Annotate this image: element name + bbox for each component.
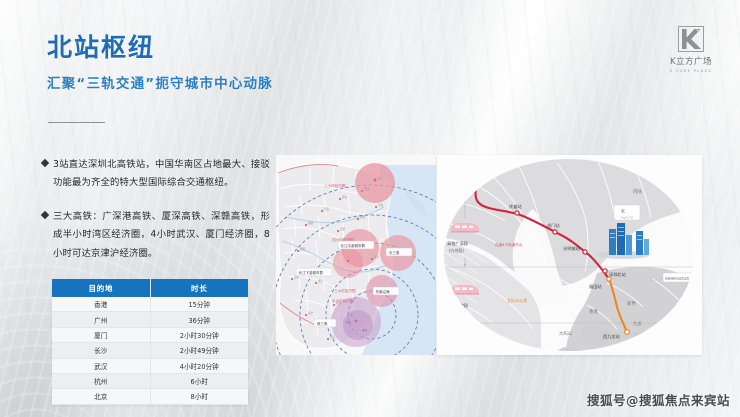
list-item: 3站直达深圳北高铁站，中国华南区占地最大、接驳功能最为齐全的特大型国际综合交通枢… <box>42 156 270 192</box>
cell-destination: 广州 <box>52 312 150 327</box>
cell-duration: 15分钟 <box>150 297 248 312</box>
k-cube-logo-icon <box>678 26 704 52</box>
bullet-text: 3站直达深圳北高铁站，中国华南区占地最大、接驳功能最为齐全的特大型国际综合交通枢… <box>53 156 270 192</box>
svg-text:东南沿海: 东南沿海 <box>376 289 390 294</box>
station-node-humen <box>553 230 557 234</box>
cell-destination: 杭州 <box>52 373 150 388</box>
svg-text:香港特别行政区边界: 香港特别行政区边界 <box>665 277 689 281</box>
cell-duration: 2小时30分钟 <box>150 327 248 342</box>
svg-text:K: K <box>621 209 625 215</box>
svg-text:深圳: 深圳 <box>346 320 352 324</box>
cell-destination: 厦门 <box>52 327 150 342</box>
header-divider <box>48 122 105 123</box>
cell-destination: 长沙 <box>52 343 150 358</box>
cell-duration: 2小时49分钟 <box>150 343 248 358</box>
station-node-guangmingcheng <box>583 250 587 254</box>
station-label-qingsheng: 庆盛站 <box>509 203 522 210</box>
station-node-futian <box>607 277 611 281</box>
svg-text:北京: 北京 <box>378 176 384 180</box>
annotation-nodes: 连接6个轨道节点 <box>495 242 523 247</box>
cell-duration: 6小时 <box>150 373 248 388</box>
column-header-destination: 目的地 <box>52 279 150 297</box>
svg-text:长三角: 长三角 <box>389 250 400 255</box>
table-row: 长沙 2小时49分钟 <box>52 343 248 358</box>
svg-text:合肥: 合肥 <box>340 227 346 231</box>
cell-duration: 36分钟 <box>150 312 248 327</box>
svg-text:香港: 香港 <box>362 328 368 332</box>
svg-text:济南: 济南 <box>360 215 366 219</box>
svg-text:长江中游城市群: 长江中游城市群 <box>341 243 366 248</box>
column-header-duration: 时长 <box>150 279 248 297</box>
svg-text:贵阳: 贵阳 <box>300 247 306 251</box>
logo-tagline: K CUBE PLAZA <box>663 68 719 73</box>
cell-destination: 武汉 <box>52 358 150 373</box>
watermark: 搜狐号@搜狐焦点来宾站 <box>587 390 730 409</box>
svg-text:南宁: 南宁 <box>308 311 314 315</box>
map-label-3h: 三小时经济圈 <box>334 288 356 293</box>
region-label-inland: 内陆 <box>633 188 642 195</box>
svg-text:珠三角: 珠三角 <box>317 321 328 326</box>
table-row: 武汉 4小时20分钟 <box>52 358 248 373</box>
svg-text:西安: 西安 <box>324 207 330 211</box>
cell-duration: 4小时20分钟 <box>150 358 248 373</box>
station-label-west-kowloon: 西九龙站 <box>603 333 620 340</box>
cell-destination: 香港 <box>52 297 150 312</box>
table-row: 杭州 6小时 <box>52 373 248 388</box>
svg-text:重庆: 重庆 <box>318 279 324 283</box>
station-label-shenzhen-north: 深圳北站 <box>609 271 626 278</box>
cell-destination: 北京 <box>52 389 150 404</box>
annotation-length: 全长26公里 <box>507 298 527 303</box>
brand-logo: K立方广场 K CUBE PLAZA <box>660 26 722 73</box>
region-label-hongkong: 香港 <box>589 308 598 315</box>
china-economic-circles-map: 北京天津 郑州西安 成都贵阳 合肥济南 大连南京 昆明南宁 重庆桂林 海口 八小… <box>276 155 436 355</box>
region-label-kowloon: 新界 <box>627 300 636 307</box>
slide-canvas: 北站枢纽 汇聚“三轨交通”扼守城市中心动脉 K立方广场 K CUBE PLAZA… <box>0 0 740 417</box>
cell-duration: 8小时 <box>150 389 248 404</box>
logo-name: K立方广场 <box>660 55 722 67</box>
svg-text:长江下游城市群: 长江下游城市群 <box>299 270 324 275</box>
svg-text:高铁广深段: 高铁广深段 <box>447 240 469 247</box>
svg-text:K立方广场: K立方广场 <box>621 215 633 219</box>
table-header-row: 目的地 时长 <box>52 279 248 297</box>
svg-text:海口: 海口 <box>330 335 336 339</box>
region-label-lantau: 大屿山 <box>559 330 572 337</box>
svg-text:(内地段): (内地段) <box>449 247 465 253</box>
station-label-humen: 虎门站 <box>547 222 560 229</box>
station-label-guangmingcheng: 光明城站 <box>563 245 580 252</box>
station-label-futian: 福田站 <box>589 283 602 290</box>
station-node-qingsheng <box>515 211 519 215</box>
station-node-shenzhen-north <box>603 269 607 273</box>
svg-text:郑州: 郑州 <box>342 195 348 199</box>
bullet-text: 三大高铁：广深港高铁、厦深高铁、深赣高铁，形成半小时湾区经济圈，4小时武汉、厦门… <box>53 208 270 262</box>
station-node-west-kowloon <box>625 330 630 335</box>
map-label-05h: 半小时经济圈 <box>332 298 354 303</box>
table-row: 香港 15分钟 <box>52 297 248 312</box>
svg-text:广州: 广州 <box>348 313 354 317</box>
svg-text:成都: 成都 <box>308 221 314 225</box>
table-row: 北京 8小时 <box>52 389 248 404</box>
bullet-list: 3站直达深圳北高铁站，中国华南区占地最大、接驳功能最为齐全的特大型国际综合交通枢… <box>42 156 270 279</box>
travel-time-table: 目的地 时长 香港 15分钟 广州 36分钟 厦门 2小时30分钟 <box>52 279 248 405</box>
map-label-8h: 八小时经济圈 <box>324 183 346 188</box>
diamond-bullet-icon <box>41 159 49 167</box>
table-row: 广州 36分钟 <box>52 312 248 327</box>
table-row: 厦门 2小时30分钟 <box>52 327 248 342</box>
svg-text:天津: 天津 <box>364 187 370 191</box>
page-subtitle: 汇聚“三轨交通”扼守城市中心动脉 <box>47 72 273 92</box>
page-title: 北站枢纽 <box>47 34 273 62</box>
region-label-kowloon2: 九龙 <box>633 320 642 327</box>
svg-text:南京: 南京 <box>374 255 380 259</box>
svg-text:大连: 大连 <box>378 203 384 207</box>
guangzhou-shenzhen-hongkong-hsr-map: K K立方广场 香港特别行政区边界 广州南站 庆盛站 虎门站 光明城站 深圳北站… <box>437 155 702 355</box>
slide-header: 北站枢纽 汇聚“三轨交通”扼守城市中心动脉 <box>47 34 273 92</box>
list-item: 三大高铁：广深港高铁、厦深高铁、深赣高铁，形成半小时湾区经济圈，4小时武汉、厦门… <box>42 208 270 262</box>
diamond-bullet-icon <box>41 211 49 219</box>
